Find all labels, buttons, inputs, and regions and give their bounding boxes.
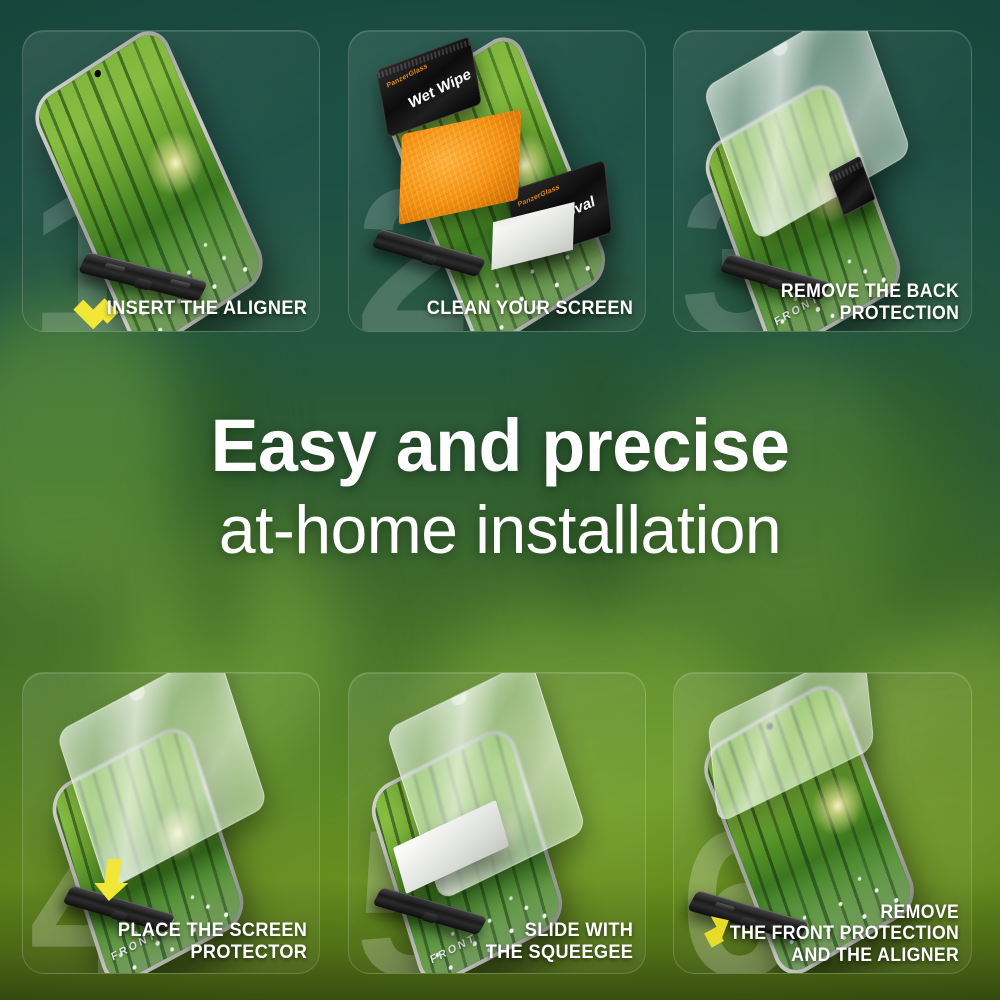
- caption-line: REMOVE THE BACK: [702, 281, 959, 302]
- step-caption-6: REMOVE THE FRONT PROTECTION AND THE ALIG…: [702, 902, 959, 966]
- aligner-notch: [104, 263, 126, 273]
- headline-line-1: Easy and precise: [15, 408, 985, 483]
- caption-line: THE FRONT PROTECTION: [702, 923, 959, 944]
- infographic-stage: 1 INSERT THE ALIGNER 2: [0, 0, 1000, 1000]
- aligner-notch: [169, 279, 191, 289]
- step-caption-2: CLEAN YOUR SCREEN: [377, 298, 633, 320]
- step-card-2[interactable]: 2 PanzerGlass Wet Wipe PanzerGlass Remov…: [348, 30, 646, 332]
- headline-line-2: at-home installation: [15, 493, 985, 568]
- caption-line: PROTECTOR: [51, 942, 307, 964]
- headline-block: Easy and precise at-home installation: [0, 408, 1000, 568]
- caption-line: AND THE ALIGNER: [702, 945, 959, 966]
- step-card-3[interactable]: 3 FRONT REMOVE THE BACK PROTECTIO: [673, 30, 972, 332]
- step-caption-1: INSERT THE ALIGNER: [51, 298, 307, 320]
- aligner-tab: [419, 253, 437, 266]
- step-card-5[interactable]: 5 FRONT SLIDE WITH THE SQUEEGEE: [348, 672, 646, 974]
- caption-line: REMOVE: [702, 902, 959, 923]
- caption-line: THE SQUEEGEE: [377, 942, 633, 964]
- step-illustration-2: PanzerGlass Wet Wipe PanzerGlass Removal: [349, 31, 645, 331]
- step-caption-3: REMOVE THE BACK PROTECTION: [702, 281, 959, 324]
- step-caption-5: SLIDE WITH THE SQUEEGEE: [377, 920, 633, 964]
- caption-line: PLACE THE SCREEN: [51, 920, 307, 942]
- sachet-brand: PanzerGlass: [517, 184, 560, 209]
- step-caption-4: PLACE THE SCREEN PROTECTOR: [51, 920, 307, 964]
- step-card-1[interactable]: 1 INSERT THE ALIGNER: [22, 30, 320, 332]
- direction-arrow-icon: [95, 857, 135, 903]
- step-card-4[interactable]: 4 FRONT PLACE THE SCREEN PROTECTO: [22, 672, 320, 974]
- step-card-6[interactable]: 6 REMOVE THE FRONT PROTECTION: [673, 672, 972, 974]
- caption-line: SLIDE WITH: [377, 920, 633, 942]
- step-illustration-1: [23, 31, 319, 331]
- caption-line: PROTECTION: [702, 303, 959, 324]
